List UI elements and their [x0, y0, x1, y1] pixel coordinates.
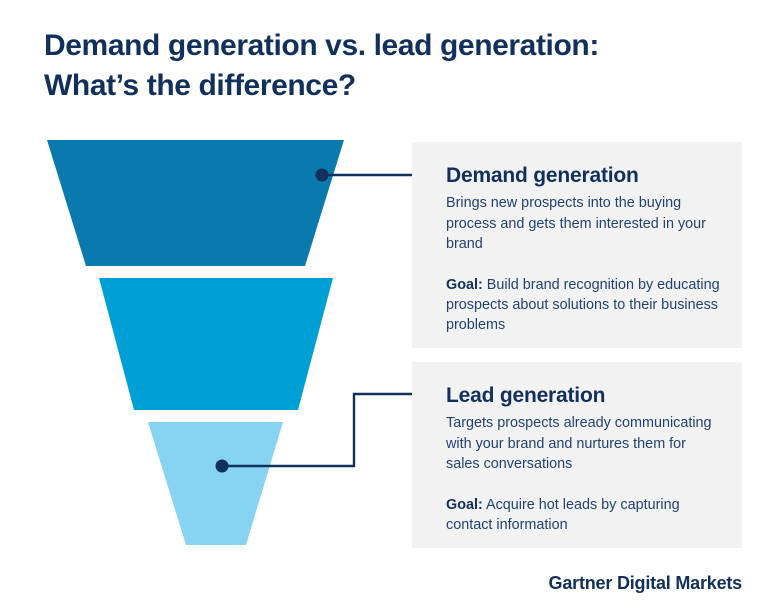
- footer-brand-wordmark: Gartner Digital Markets: [549, 573, 742, 594]
- lead-connector: [216, 388, 436, 473]
- lead-panel-goal: Goal: Acquire hot leads by capturing con…: [446, 495, 720, 536]
- page-title: Demand generation vs. lead generation: W…: [44, 26, 704, 105]
- lead-panel-heading: Lead generation: [446, 384, 720, 408]
- lead-goal-label: Goal:: [446, 497, 483, 513]
- demand-generation-panel: Demand generation Brings new prospects i…: [412, 142, 742, 348]
- title-line-1: Demand generation vs. lead generation:: [44, 26, 704, 66]
- lead-generation-panel: Lead generation Targets prospects alread…: [412, 362, 742, 548]
- lead-panel-description: Targets prospects already communicating …: [446, 413, 720, 474]
- demand-panel-goal: Goal: Build brand recognition by educati…: [446, 275, 720, 336]
- demand-panel-description: Brings new prospects into the buying pro…: [446, 193, 720, 254]
- title-line-2: What’s the difference?: [44, 66, 704, 106]
- demand-goal-text: Build brand recognition by educating pro…: [446, 277, 720, 334]
- funnel-segment-bottom: [148, 422, 283, 545]
- demand-panel-heading: Demand generation: [446, 164, 720, 188]
- funnel-segment-middle: [99, 278, 333, 410]
- demand-goal-label: Goal:: [446, 277, 483, 293]
- infographic-canvas: Demand generation vs. lead generation: W…: [0, 0, 768, 612]
- funnel-segment-top: [47, 140, 344, 266]
